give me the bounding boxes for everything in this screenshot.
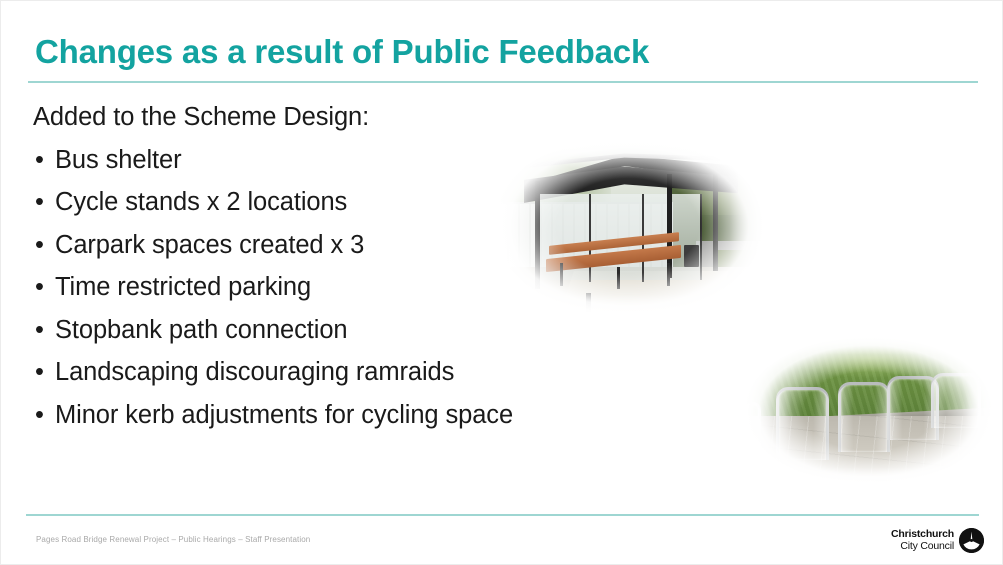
list-item-label: Minor kerb adjustments for cycling space bbox=[55, 401, 513, 429]
bullet-icon: • bbox=[35, 403, 44, 429]
cycle-stands-scene bbox=[740, 335, 998, 487]
logo-wordmark: Christchurch City Council bbox=[891, 529, 954, 552]
list-item-label: Landscaping discouraging ramraids bbox=[55, 358, 454, 386]
shelter-post bbox=[713, 170, 718, 270]
bullet-icon: • bbox=[35, 275, 44, 301]
bullet-icon: • bbox=[35, 318, 44, 344]
slide-canvas: Changes as a result of Public Feedback A… bbox=[0, 0, 1003, 565]
bench-leg bbox=[617, 267, 620, 289]
christchurch-city-council-logo: Christchurch City Council bbox=[891, 528, 984, 553]
bench-leg bbox=[667, 263, 670, 285]
bench-leg bbox=[560, 263, 563, 285]
bus-shelter-photo bbox=[487, 133, 769, 319]
lead-text: Added to the Scheme Design: bbox=[33, 105, 633, 131]
list-item: • Landscaping discouraging ramraids bbox=[33, 360, 633, 386]
logo-line-city-council: City Council bbox=[891, 541, 954, 552]
cycle-stand-hoop bbox=[745, 402, 761, 466]
shelter-post bbox=[586, 293, 591, 319]
bus-shelter-scene bbox=[487, 133, 769, 319]
footer-divider bbox=[26, 514, 979, 516]
shelter-mullion bbox=[589, 194, 591, 281]
grass-highlight bbox=[792, 338, 947, 378]
footer-caption: Pages Road Bridge Renewal Project – Publ… bbox=[36, 535, 310, 544]
shelter-post bbox=[535, 181, 540, 289]
bullet-icon: • bbox=[35, 148, 44, 174]
cycle-stand-hoop bbox=[931, 373, 981, 428]
list-item-label: Cycle stands x 2 locations bbox=[55, 188, 347, 216]
list-item-label: Carpark spaces created x 3 bbox=[55, 231, 364, 259]
logo-line-christchurch: Christchurch bbox=[891, 529, 954, 540]
list-item-label: Time restricted parking bbox=[55, 273, 311, 301]
cycle-stand-hoop bbox=[776, 387, 828, 460]
page-title: Changes as a result of Public Feedback bbox=[35, 34, 935, 70]
list-item-label: Stopbank path connection bbox=[55, 316, 348, 344]
cycle-stand-hoop bbox=[838, 382, 890, 452]
list-item: • Minor kerb adjustments for cycling spa… bbox=[33, 403, 633, 429]
council-emblem-icon bbox=[959, 528, 984, 553]
cycle-stands-photo bbox=[740, 335, 998, 487]
rubbish-bin bbox=[684, 245, 698, 267]
bullet-icon: • bbox=[35, 233, 44, 259]
bullet-icon: • bbox=[35, 360, 44, 386]
title-divider bbox=[28, 81, 978, 83]
bullet-icon: • bbox=[35, 190, 44, 216]
list-item: • Stopbank path connection bbox=[33, 318, 633, 344]
list-item-label: Bus shelter bbox=[55, 146, 181, 174]
